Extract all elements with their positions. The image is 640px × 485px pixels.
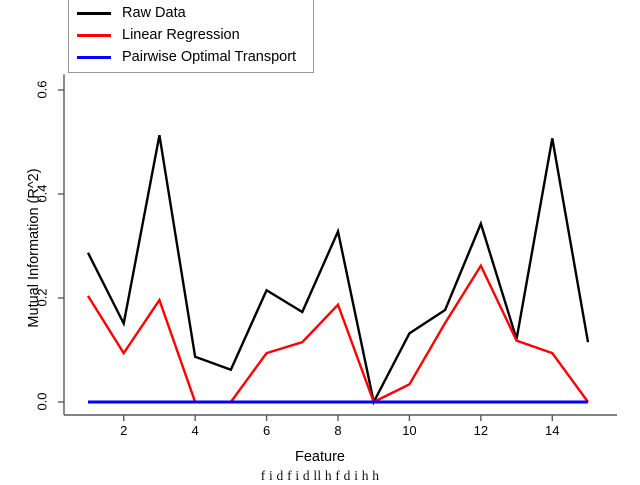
x-tick-label-14: 14: [532, 423, 572, 438]
legend-label-linear-regression: Linear Regression: [122, 28, 240, 43]
figure-caption: f i d f i d ll h f d i h h: [0, 468, 640, 484]
data-series-group: [88, 135, 588, 402]
x-tick-label-12: 12: [461, 423, 501, 438]
legend-entry-raw-data: Raw Data: [77, 2, 186, 24]
legend-entry-linear-regression: Linear Regression: [77, 24, 240, 46]
series-line-linear-regression: [88, 266, 588, 402]
x-tick-label-6: 6: [247, 423, 287, 438]
y-axis-title: Mutual Information (R^2): [26, 128, 42, 368]
legend-label-pairwise-optimal-transport: Pairwise Optimal Transport: [122, 50, 296, 65]
legend-label-raw-data: Raw Data: [122, 6, 186, 21]
y-tick-label-0-0: 0.0: [35, 382, 50, 422]
legend-swatch-pairwise-optimal-transport: [77, 56, 111, 59]
legend-entry-pairwise-optimal-transport: Pairwise Optimal Transport: [77, 46, 296, 68]
x-axis-title: Feature: [0, 449, 640, 465]
axis-ticks: [58, 90, 552, 421]
x-tick-label-10: 10: [389, 423, 429, 438]
figure-container: Raw Data Linear Regression Pairwise Opti…: [0, 0, 640, 485]
chart-legend: Raw Data Linear Regression Pairwise Opti…: [68, 0, 314, 73]
legend-swatch-linear-regression: [77, 34, 111, 37]
y-tick-label-0-6: 0.6: [35, 70, 50, 110]
x-tick-label-4: 4: [175, 423, 215, 438]
legend-swatch-raw-data: [77, 12, 111, 15]
series-line-raw-data: [88, 135, 588, 402]
y-tick-label-0-2: 0.2: [35, 278, 50, 318]
x-tick-label-8: 8: [318, 423, 358, 438]
y-tick-label-0-4: 0.4: [35, 174, 50, 214]
x-tick-label-2: 2: [104, 423, 144, 438]
